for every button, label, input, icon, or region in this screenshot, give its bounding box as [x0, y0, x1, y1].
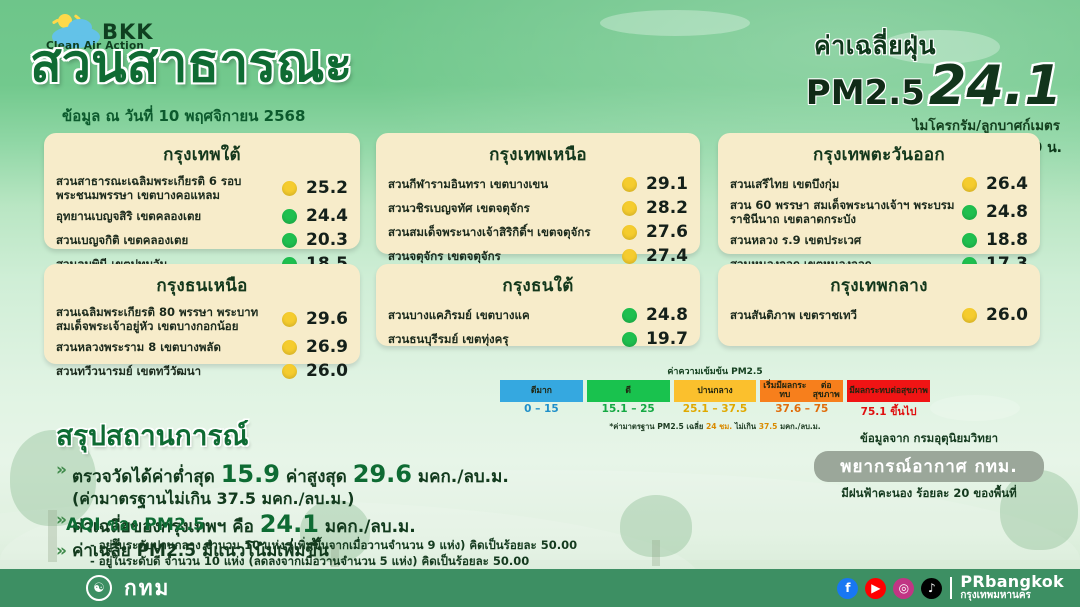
status-dot-icon	[282, 364, 297, 379]
legend-segment: มีผลกระทบต่อสุขภาพ	[847, 380, 930, 402]
status-dot-icon	[622, 177, 637, 192]
park-name: สวนเฉลิมพระเกียรติ 80 พรรษา พระบาทสมเด็จ…	[56, 305, 282, 333]
card-title: กรุงธนใต้	[388, 272, 688, 299]
average-pm-label: PM2.5	[806, 73, 925, 113]
youtube-icon[interactable]: ▶	[865, 578, 886, 599]
legend-segment: ดีมาก	[500, 380, 583, 402]
park-name: สวนเสรีไทย เขตบึงกุ่ม	[730, 177, 962, 191]
park-name: สวนธนบุรีรมย์ เขตทุ่งครุ	[388, 332, 622, 346]
aqi-line-good: - อยู่ในระดับดี จำนวน 10 แห่ง (ลดลงจากเม…	[66, 554, 766, 570]
park-row: สวนสมเด็จพระนางเจ้าสิริกิติ์ฯ เขตจตุจักร…	[388, 222, 688, 242]
weather-forecast-panel: ข้อมูลจาก กรมอุตุนิยมวิทยา พยากรณ์อากาศ …	[794, 430, 1064, 503]
park-name: อุทยานเบญจสิริ เขตคลองเตย	[56, 209, 282, 223]
park-row: สวนบางแคภิรมย์ เขตบางแค24.8	[388, 305, 688, 325]
park-row: สวนสาธารณะเฉลิมพระเกียรติ 6 รอบ พระชนมพร…	[56, 174, 348, 202]
park-pm25-value: 26.9	[304, 337, 348, 357]
park-row: สวนวชิรเบญจทัศ เขตจตุจักร28.2	[388, 198, 688, 218]
header: BKK Clean Air Action สวนสาธารณะ ข้อมูล ณ…	[0, 0, 1080, 125]
district-card-bangkok-east: กรุงเทพตะวันออกสวนเสรีไทย เขตบึงกุ่ม26.4…	[718, 133, 1040, 254]
park-pm25-value: 24.8	[644, 305, 688, 325]
status-dot-icon	[282, 181, 297, 196]
park-row: สวนหลวงพระราม 8 เขตบางพลัด26.9	[56, 337, 348, 357]
status-dot-icon	[622, 308, 637, 323]
park-pm25-value: 25.2	[304, 178, 348, 198]
park-pm25-value: 29.6	[304, 309, 348, 329]
park-pm25-value: 19.7	[644, 329, 688, 349]
park-name: สวนเบญจกิติ เขตคลองเตย	[56, 233, 282, 247]
card-title: กรุงเทพเหนือ	[388, 141, 688, 168]
park-pm25-value: 28.2	[644, 198, 688, 218]
status-dot-icon	[282, 312, 297, 327]
card-title: กรุงเทพกลาง	[730, 272, 1028, 299]
legend-segment: เริ่มมีผลกระทบต่อสุขภาพ	[760, 380, 843, 402]
park-pm25-value: 29.1	[644, 174, 688, 194]
status-dot-icon	[282, 233, 297, 248]
poster-root: BKK Clean Air Action สวนสาธารณะ ข้อมูล ณ…	[0, 0, 1080, 607]
park-name: สวนกีฬารามอินทรา เขตบางเขน	[388, 177, 622, 191]
park-name: สวนจตุจักร เขตจตุจักร	[388, 249, 622, 263]
district-card-thon-north: กรุงธนเหนือสวนเฉลิมพระเกียรติ 80 พรรษา พ…	[44, 264, 360, 364]
instagram-icon[interactable]: ◎	[893, 578, 914, 599]
pr-main-label: PRbangkok	[960, 574, 1064, 591]
summary-line1-a: ตรวจวัดได้ค่าต่ำสุด	[72, 467, 221, 487]
summary-title: สรุปสถานการณ์	[56, 414, 816, 458]
park-name: สวนวชิรเบญจทัศ เขตจตุจักร	[388, 201, 622, 215]
social-links: f▶◎♪	[837, 578, 942, 599]
status-dot-icon	[962, 308, 977, 323]
summary-min-value: 15.9	[221, 460, 280, 488]
summary-line-1: » ตรวจวัดได้ค่าต่ำสุด 15.9 ค่าสูงสุด 29.…	[56, 460, 816, 508]
park-pm25-value: 24.4	[304, 206, 348, 226]
status-dot-icon	[622, 201, 637, 216]
park-name: สวนสมเด็จพระนางเจ้าสิริกิติ์ฯ เขตจตุจักร	[388, 225, 622, 239]
park-row: สวนกีฬารามอินทรา เขตบางเขน29.1	[388, 174, 688, 194]
park-row: สวนทวีวนารมย์ เขตทวีวัฒนา26.0	[56, 361, 348, 381]
bangkok-seal-icon: ☯	[86, 575, 112, 601]
park-pm25-value: 18.8	[984, 230, 1028, 250]
park-row: สวนเบญจกิติ เขตคลองเตย20.3	[56, 230, 348, 250]
footer-brand-label: กทม	[124, 572, 170, 605]
district-card-bangkok-central: กรุงเทพกลางสวนสันติภาพ เขตราชเทวี26.0	[718, 264, 1040, 346]
legend-segment: ดี	[587, 380, 670, 402]
footer-divider	[950, 577, 952, 599]
facebook-icon[interactable]: f	[837, 578, 858, 599]
average-label: ค่าเฉลี่ยฝุ่น	[602, 26, 936, 66]
aqi-line-moderate: - อยู่ในระดับปานกลาง จำนวน 10 แห่ง (เพิ่…	[66, 538, 766, 554]
data-date-label: ข้อมูล ณ วันที่ 10 พฤศจิกายน 2568	[62, 104, 305, 128]
summary-line1-c: มคก./ลบ.ม.	[412, 467, 509, 487]
park-name: สวนบางแคภิรมย์ เขตบางแค	[388, 308, 622, 322]
legend-bars: ดีมากดีปานกลางเริ่มมีผลกระทบต่อสุขภาพมีผ…	[500, 380, 930, 402]
summary-max-value: 29.6	[353, 460, 412, 488]
average-pm25-value: 24.1	[929, 62, 1062, 111]
legend-segment: ปานกลาง	[674, 380, 757, 402]
aqi-section: AQI ของ PM2.5 - อยู่ในระดับปานกลาง จำนวน…	[66, 511, 766, 569]
park-row: สวน 60 พรรษา สมเด็จพระนางเจ้าฯ พระบรมราช…	[730, 198, 1028, 226]
status-dot-icon	[962, 177, 977, 192]
district-card-bangkok-south: กรุงเทพใต้สวนสาธารณะเฉลิมพระเกียรติ 6 รอ…	[44, 133, 360, 249]
status-dot-icon	[622, 225, 637, 240]
status-dot-icon	[962, 233, 977, 248]
pr-sub-label: กรุงเทพมหานคร	[960, 591, 1064, 602]
park-name: สวนสันติภาพ เขตราชเทวี	[730, 308, 962, 322]
status-dot-icon	[622, 249, 637, 264]
status-dot-icon	[962, 205, 977, 220]
park-pm25-value: 24.8	[984, 202, 1028, 222]
park-row: สวนธนบุรีรมย์ เขตทุ่งครุ19.7	[388, 329, 688, 349]
park-name: สวน 60 พรรษา สมเด็จพระนางเจ้าฯ พระบรมราช…	[730, 198, 962, 226]
status-dot-icon	[282, 209, 297, 224]
park-pm25-value: 26.0	[304, 361, 348, 381]
park-pm25-value: 20.3	[304, 230, 348, 250]
footer-bar: ☯ กทม f▶◎♪ PRbangkok กรุงเทพมหานคร	[0, 569, 1080, 607]
status-dot-icon	[622, 332, 637, 347]
forecast-source: ข้อมูลจาก กรมอุตุนิยมวิทยา	[794, 430, 1064, 448]
district-card-bangkok-north: กรุงเทพเหนือสวนกีฬารามอินทรา เขตบางเขน29…	[376, 133, 700, 254]
card-title: กรุงธนเหนือ	[56, 272, 348, 299]
aqi-title: AQI ของ PM2.5	[66, 511, 766, 538]
park-row: สวนจตุจักร เขตจตุจักร27.4	[388, 246, 688, 266]
park-name: สวนสาธารณะเฉลิมพระเกียรติ 6 รอบ พระชนมพร…	[56, 174, 282, 202]
park-pm25-value: 27.4	[644, 246, 688, 266]
tiktok-icon[interactable]: ♪	[921, 578, 942, 599]
page-title: สวนสาธารณะ	[30, 38, 352, 90]
park-pm25-value: 27.6	[644, 222, 688, 242]
card-title: กรุงเทพใต้	[56, 141, 348, 168]
park-name: สวนหลวงพระราม 8 เขตบางพลัด	[56, 340, 282, 354]
chevron-right-icon: »	[56, 460, 67, 481]
legend-title: ค่าความเข้มข้น PM2.5	[500, 364, 930, 378]
status-dot-icon	[282, 340, 297, 355]
forecast-note: มีฝนฟ้าคะนอง ร้อยละ 20 ของพื้นที่	[794, 485, 1064, 503]
park-row: สวนเฉลิมพระเกียรติ 80 พรรษา พระบาทสมเด็จ…	[56, 305, 348, 333]
pr-bangkok-block: PRbangkok กรุงเทพมหานคร	[960, 574, 1064, 601]
park-name: สวนทวีวนารมย์ เขตทวีวัฒนา	[56, 364, 282, 378]
park-name: สวนหลวง ร.9 เขตประเวศ	[730, 233, 962, 247]
park-row: สวนเสรีไทย เขตบึงกุ่ม26.4	[730, 174, 1028, 194]
park-row: สวนหลวง ร.9 เขตประเวศ18.8	[730, 230, 1028, 250]
summary-line1-b: ค่าสูงสุด	[280, 467, 353, 487]
summary-standard-note: (ค่ามาตรฐานไม่เกิน 37.5 มคก./ลบ.ม.)	[72, 489, 509, 508]
park-row: สวนสันติภาพ เขตราชเทวี26.0	[730, 305, 1028, 325]
forecast-pill: พยากรณ์อากาศ กทม.	[814, 451, 1043, 482]
legend-range-label: 75.1 ขึ้นไป	[847, 403, 930, 420]
park-pm25-value: 26.4	[984, 174, 1028, 194]
district-card-thon-south: กรุงธนใต้สวนบางแคภิรมย์ เขตบางแค24.8สวนธ…	[376, 264, 700, 346]
park-pm25-value: 26.0	[984, 305, 1028, 325]
card-title: กรุงเทพตะวันออก	[730, 141, 1028, 168]
cloud-decoration	[930, 395, 1020, 421]
park-row: อุทยานเบญจสิริ เขตคลองเตย24.4	[56, 206, 348, 226]
